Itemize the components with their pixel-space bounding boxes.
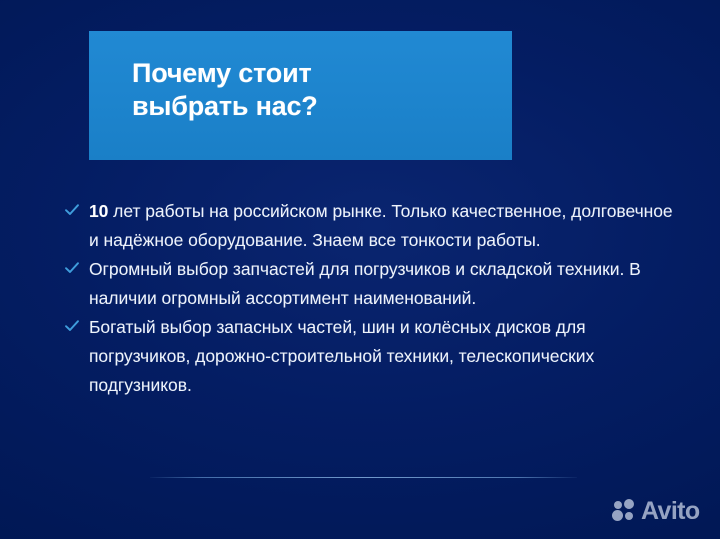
list-item-text: Огромный выбор запчастей для погрузчиков… <box>89 255 683 313</box>
list-item: 10 лет работы на российском рынке. Тольк… <box>63 197 683 255</box>
check-icon <box>64 318 80 334</box>
slide-canvas: Почему стоит выбрать нас? 10 лет работы … <box>0 0 720 539</box>
list-item-body: лет работы на российском рынке. Только к… <box>89 201 673 250</box>
page-title: Почему стоит выбрать нас? <box>132 57 492 123</box>
check-icon <box>64 202 80 218</box>
list-item-body: Огромный выбор запчастей для погрузчиков… <box>89 259 641 308</box>
list-item-body: Богатый выбор запасных частей, шин и кол… <box>89 317 594 395</box>
avito-wordmark: Avito <box>641 498 700 524</box>
horizontal-divider <box>150 477 577 478</box>
avito-watermark: Avito <box>612 498 700 524</box>
list-item: Богатый выбор запасных частей, шин и кол… <box>63 313 683 400</box>
list-item-text: 10 лет работы на российском рынке. Тольк… <box>89 197 683 255</box>
list-item-lead: 10 <box>89 201 108 221</box>
benefits-list: 10 лет работы на российском рынке. Тольк… <box>63 197 683 400</box>
title-banner: Почему стоит выбрать нас? <box>89 31 512 160</box>
avito-dots-icon <box>612 498 638 524</box>
check-icon <box>64 260 80 276</box>
list-item: Огромный выбор запчастей для погрузчиков… <box>63 255 683 313</box>
list-item-text: Богатый выбор запасных частей, шин и кол… <box>89 313 683 400</box>
